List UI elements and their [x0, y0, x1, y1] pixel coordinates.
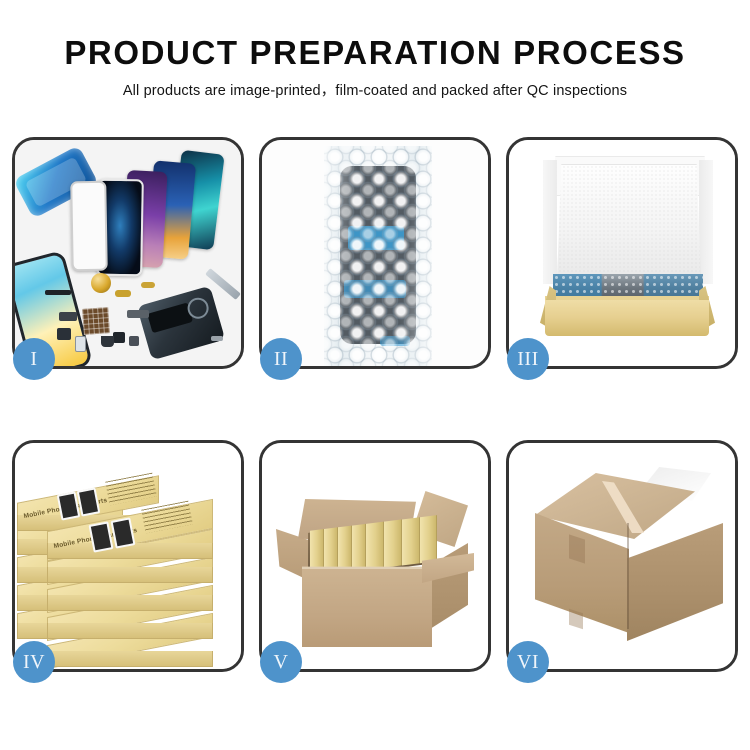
process-step-2: II [259, 137, 491, 369]
page-header: PRODUCT PREPARATION PROCESS All products… [0, 0, 750, 99]
process-step-5: V [259, 440, 491, 672]
page-subtitle: All products are image-printed，film-coat… [0, 84, 750, 99]
step-5-photo [262, 443, 488, 669]
carton-seam-graphic [627, 523, 629, 629]
process-step-6: VI [506, 440, 738, 672]
process-step-3: III [506, 137, 738, 369]
phone-screen-graphic [70, 181, 108, 272]
step-number-badge-4: IV [13, 641, 55, 683]
spare-part-graphic [101, 336, 114, 347]
step-2-photo [262, 140, 488, 366]
step-number-badge-6: VI [507, 641, 549, 683]
box-front-graphic [545, 300, 709, 336]
spare-part-graphic [59, 312, 77, 321]
carton-right-face-graphic [627, 523, 723, 641]
step-number-badge-5: V [260, 641, 302, 683]
page-title: PRODUCT PREPARATION PROCESS [0, 36, 750, 69]
step-4-photo: Mobile Phone Spare Parts Mobile Phone Sp… [15, 443, 241, 669]
process-step-grid: I II III [12, 137, 738, 672]
spare-part-graphic [75, 336, 86, 352]
spare-part-graphic [113, 332, 125, 343]
box-flap-graphic [699, 160, 713, 284]
chip-array-part-graphic [82, 307, 110, 335]
box-flap-graphic [543, 160, 557, 284]
spare-part-graphic [141, 282, 155, 288]
carton-front-graphic [302, 569, 432, 647]
plastic-gloss-graphic [324, 146, 432, 366]
spare-part-graphic [129, 336, 139, 346]
carton-handle-cut-graphic [569, 609, 583, 630]
step-6-photo [509, 443, 735, 669]
foam-lining-graphic [557, 164, 701, 280]
spare-part-graphic [45, 290, 71, 295]
logic-board-graphic [137, 286, 225, 361]
box-stack-graphic: Mobile Phone Spare Parts Mobile Phone Sp… [15, 443, 241, 669]
spare-part-graphic [57, 328, 71, 340]
step-number-badge-1: I [13, 338, 55, 380]
process-step-4: Mobile Phone Spare Parts Mobile Phone Sp… [12, 440, 244, 672]
step-number-badge-3: III [507, 338, 549, 380]
spare-part-graphic [127, 310, 149, 318]
spare-part-graphic [115, 290, 131, 297]
step-1-photo [15, 140, 241, 366]
speaker-coil-part-graphic [91, 273, 111, 293]
process-step-1: I [12, 137, 244, 369]
step-3-photo [509, 140, 735, 366]
step-number-badge-2: II [260, 338, 302, 380]
spare-part-graphic [211, 336, 223, 341]
carton-handle-cut-graphic [569, 534, 585, 563]
